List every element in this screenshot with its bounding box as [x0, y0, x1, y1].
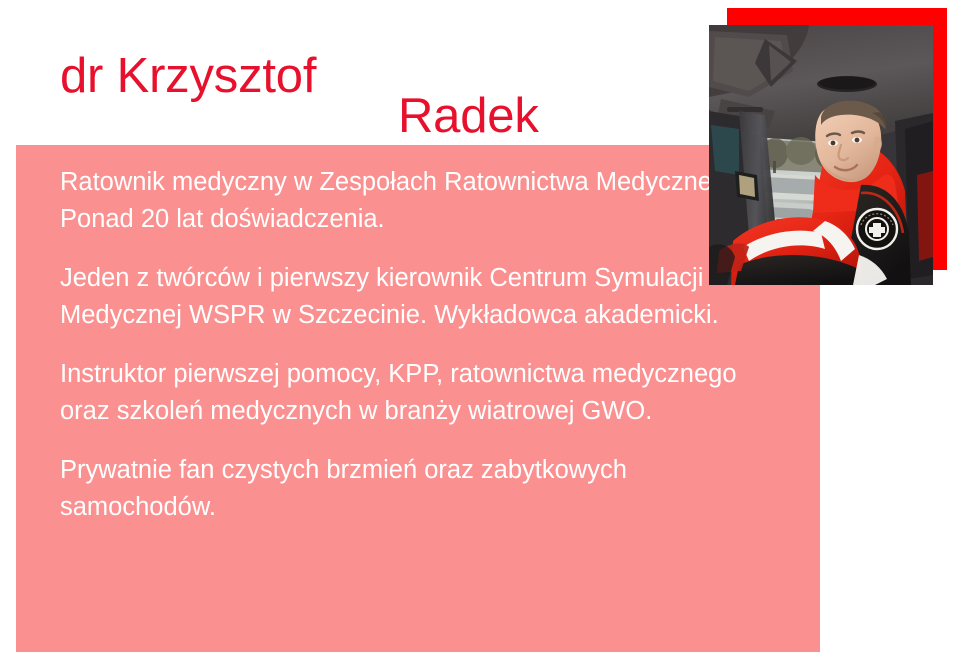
title-line-first-name: dr Krzysztof: [60, 48, 316, 104]
biography-text: Ratownik medyczny w Zespołach Ratownictw…: [60, 164, 760, 526]
page-title: dr Krzysztof Radek: [0, 0, 700, 150]
biography-paragraph-3: Instruktor pierwszej pomocy, KPP, ratown…: [60, 356, 760, 430]
title-line-last-name: Radek: [398, 88, 539, 144]
biography-paragraph-1: Ratownik medyczny w Zespołach Ratownictw…: [60, 164, 760, 238]
slide-canvas: dr Krzysztof Radek Ratownik medyczny w Z…: [0, 0, 962, 666]
biography-paragraph-4: Prywatnie fan czystych brzmień oraz zaby…: [60, 452, 760, 526]
portrait-group: [690, 0, 962, 300]
biography-paragraph-2: Jeden z twórców i pierwszy kierownik Cen…: [60, 260, 760, 334]
portrait-photo: [709, 25, 933, 285]
